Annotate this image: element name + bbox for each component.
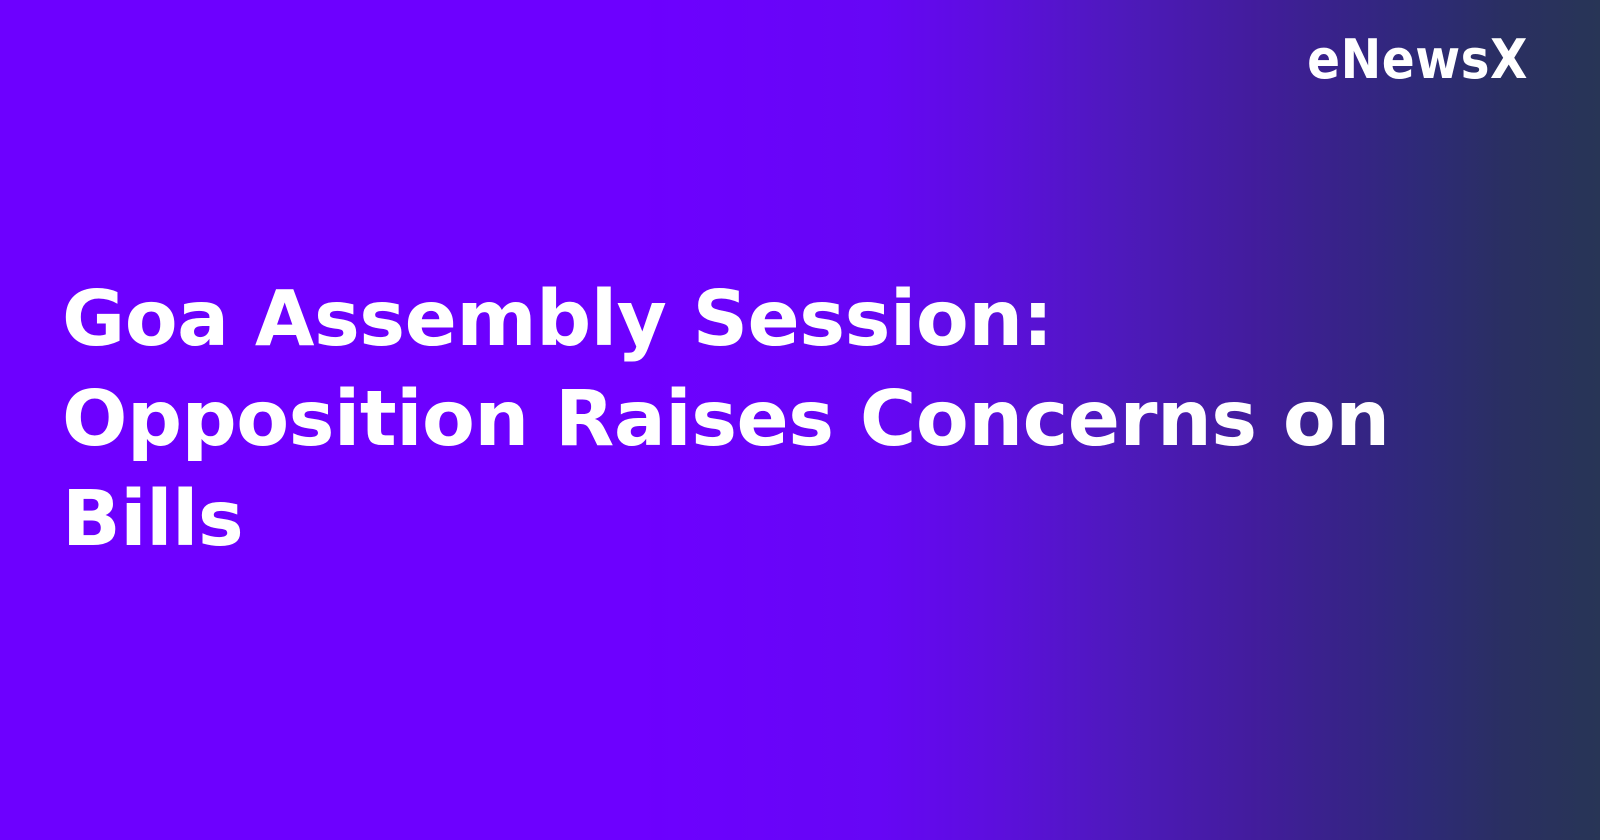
news-article-banner: eNewsX Goa Assembly Session: Opposition … — [0, 0, 1600, 840]
article-headline: Goa Assembly Session: Opposition Raises … — [62, 270, 1402, 570]
headline-container: Goa Assembly Session: Opposition Raises … — [62, 0, 1402, 840]
